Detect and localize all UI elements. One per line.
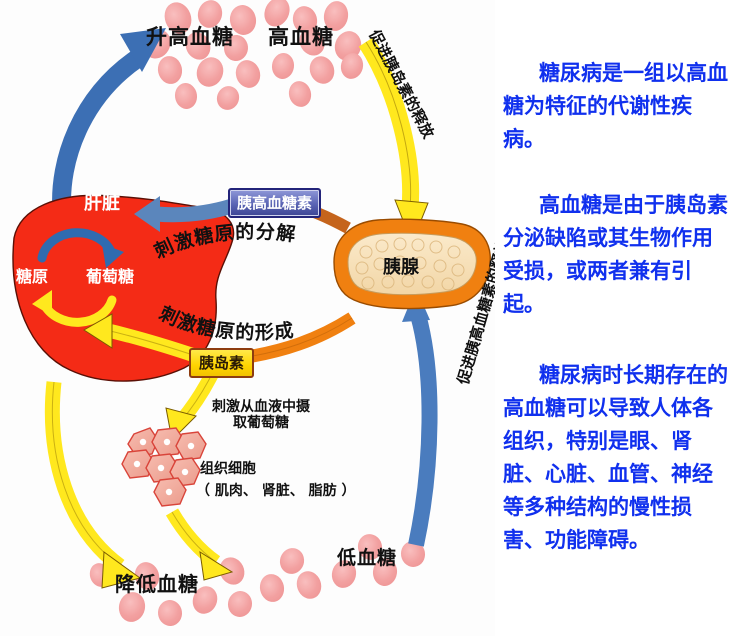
slide-canvas: 刺激糖原的分解 刺激糖原的形成 升高血糖 高血糖 降低血糖 低血糖 肝脏 糖原 …	[0, 0, 729, 636]
paragraph-definition: 糖尿病是一组以高血糖为特征的代谢性疾病。	[503, 56, 729, 155]
arrow-liver-to-low-glucose	[52, 382, 140, 588]
label-liver: 肝脏	[84, 194, 120, 214]
arch-label-breakdown: 刺激糖原的分解	[151, 220, 297, 263]
svg-text:刺激糖原的分解: 刺激糖原的分解	[151, 220, 297, 263]
tag-glucagon: 胰高血糖素	[228, 188, 321, 218]
arrow-low-glucose-to-pancreas	[402, 288, 430, 545]
blood-glucose-regulation-diagram: 刺激糖原的分解 刺激糖原的形成 升高血糖 高血糖 降低血糖 低血糖 肝脏 糖原 …	[0, 0, 495, 636]
label-glucose: 葡萄糖	[86, 268, 134, 286]
paragraph-complications: 糖尿病时长期存在的高血糖可以导致人体各组织，特别是眼、肾脏、心脏、血管、神经等多…	[503, 358, 729, 556]
label-low-blood-sugar: 低血糖	[337, 548, 397, 569]
blood-cells-top	[138, 0, 366, 113]
label-pancreas: 胰腺	[383, 258, 419, 278]
label-lower-blood-sugar: 降低血糖	[115, 573, 199, 595]
label-tissue-cells-detail: （ 肌肉、 肾脏、 脂肪 ）	[196, 484, 356, 500]
paragraph-cause: 高血糖是由于胰岛素分泌缺陷或其生物作用受损，或两者兼有引起。	[503, 188, 729, 320]
label-high-blood-sugar: 高血糖	[268, 26, 334, 50]
tissue-cells-cluster	[122, 428, 206, 506]
svg-text:刺激糖原的形成: 刺激糖原的形成	[156, 302, 296, 344]
explanation-text-panel: 糖尿病是一组以高血糖为特征的代谢性疾病。 高血糖是由于胰岛素分泌缺陷或其生物作用…	[495, 0, 729, 636]
label-tissue-cells: 组织细胞	[200, 462, 256, 478]
label-glucose-uptake: 刺激从血液中摄取葡萄糖	[206, 400, 316, 431]
arrow-tissue-to-low-glucose	[172, 512, 232, 580]
arch-text-glycogen-formation: 刺激糖原的形成	[140, 296, 360, 356]
arch-label-formation: 刺激糖原的形成	[156, 302, 296, 344]
arch-text-glycogen-breakdown: 刺激糖原的分解	[140, 214, 360, 274]
label-raise-blood-sugar: 升高血糖	[146, 26, 234, 50]
label-glycogen: 糖原	[16, 268, 48, 286]
arrow-liver-to-high-glucose	[62, 28, 166, 212]
tag-insulin: 胰岛素	[189, 348, 254, 378]
